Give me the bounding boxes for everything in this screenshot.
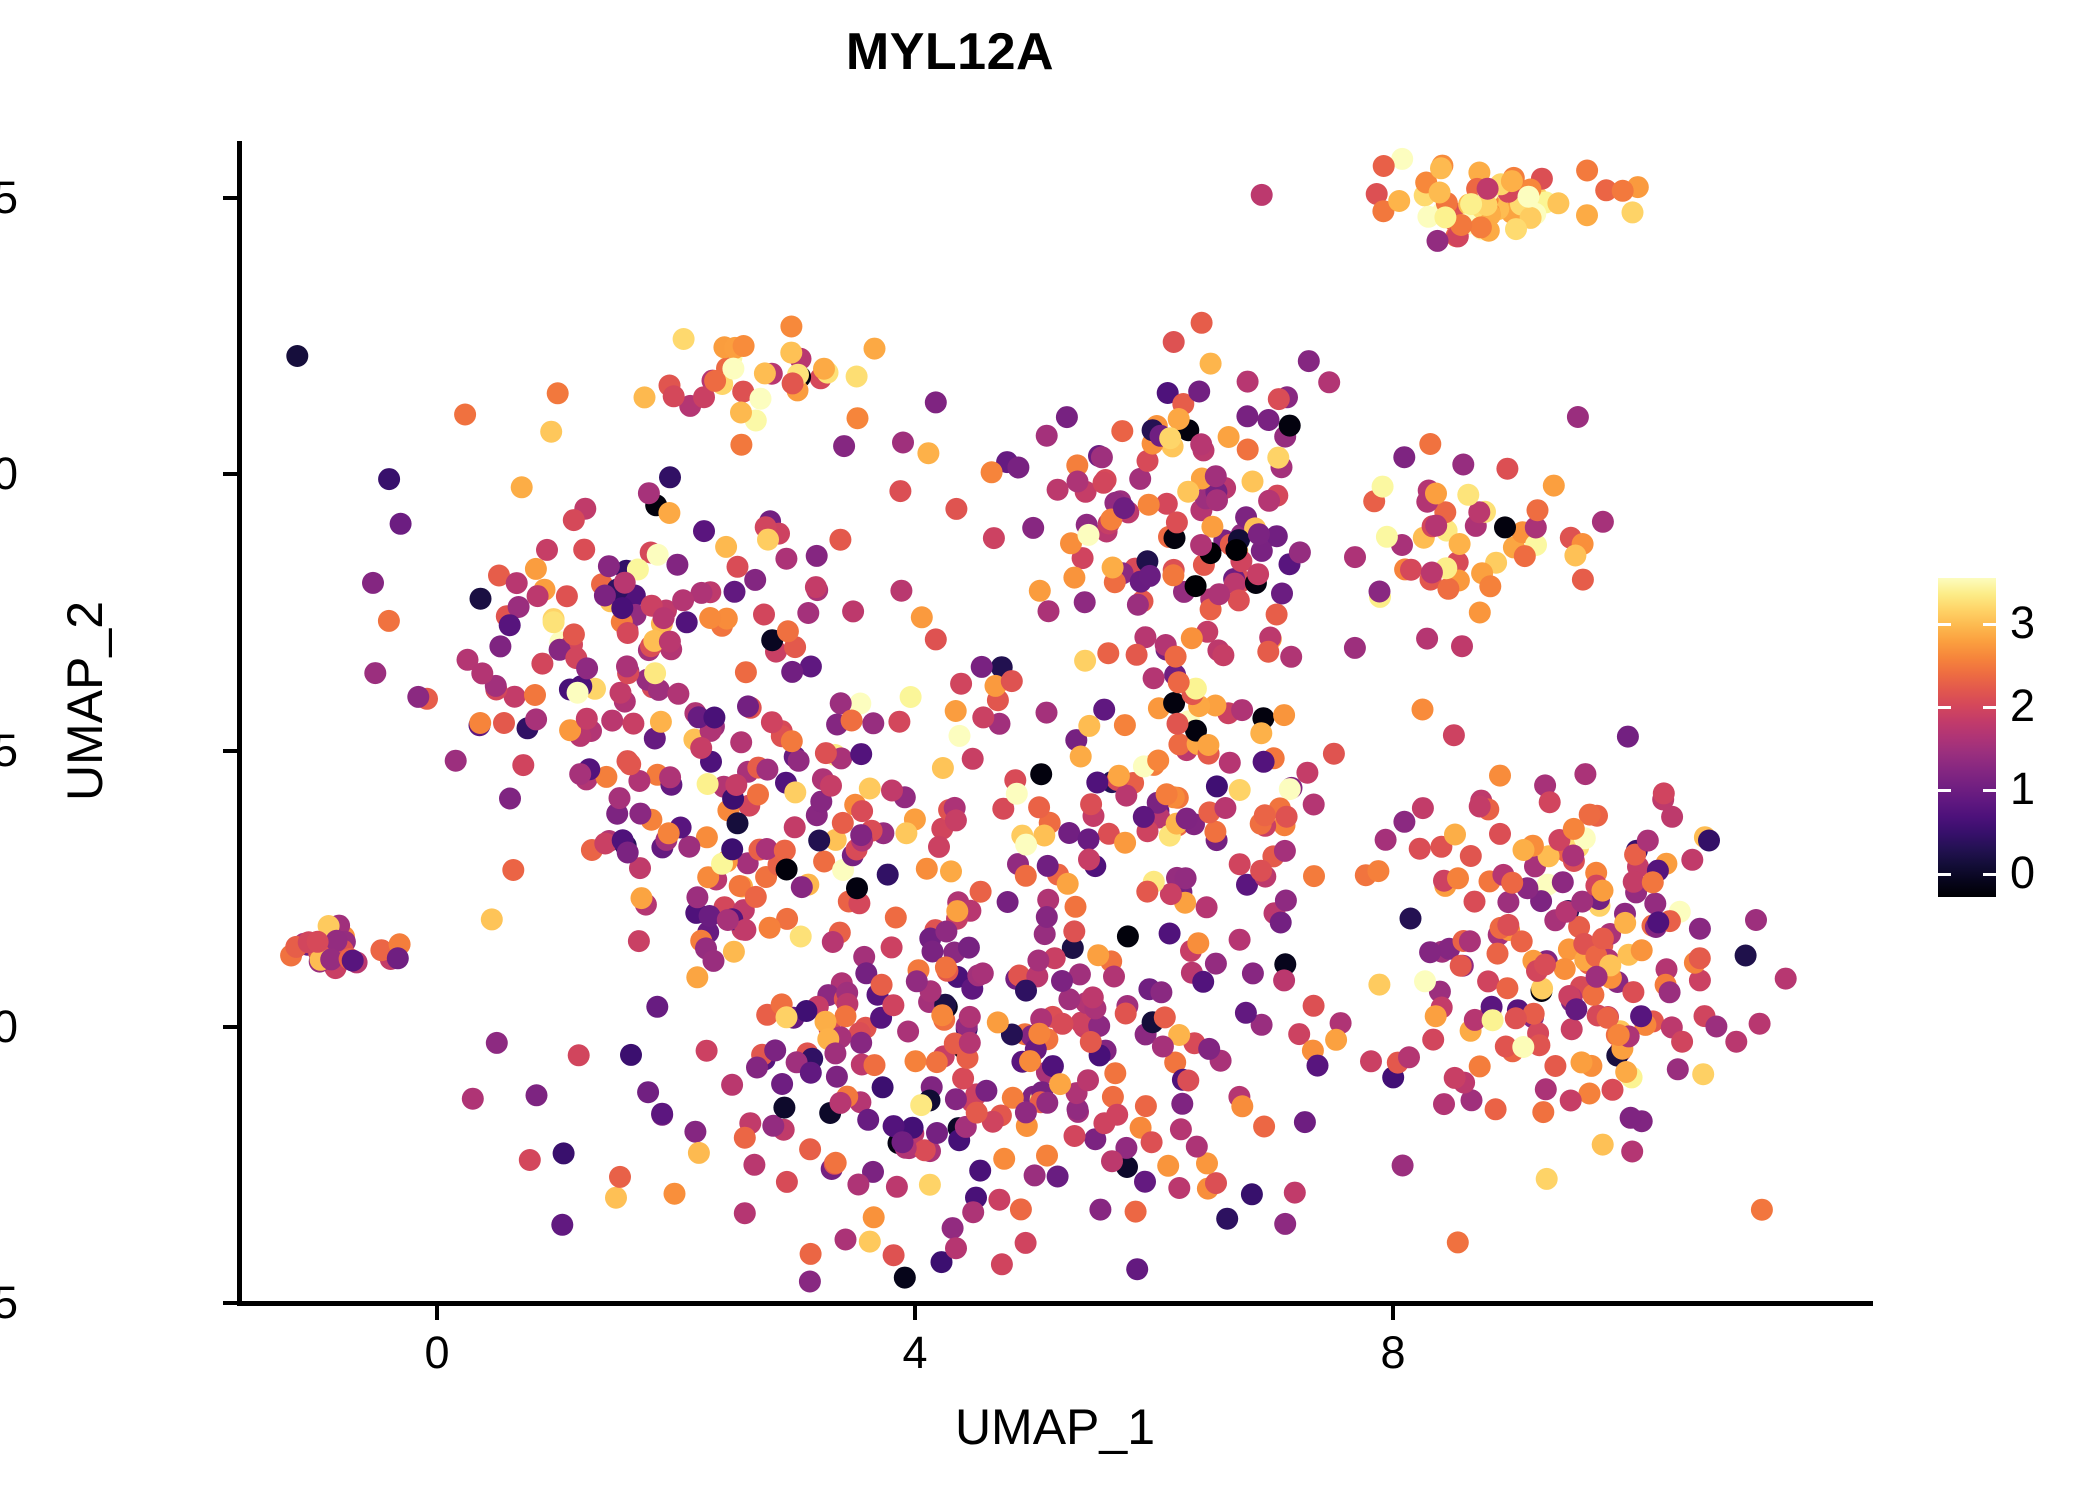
scatter-point xyxy=(525,558,547,580)
scatter-point xyxy=(1115,1003,1137,1025)
scatter-point xyxy=(975,1080,997,1102)
scatter-point xyxy=(966,1102,988,1124)
scatter-point xyxy=(1102,557,1124,579)
scatter-point xyxy=(1464,891,1486,913)
scatter-point xyxy=(362,572,384,594)
scatter-point xyxy=(730,434,752,456)
scatter-point xyxy=(1751,1199,1773,1221)
scatter-point xyxy=(1552,871,1574,893)
scatter-point xyxy=(563,509,585,531)
scatter-point xyxy=(722,358,744,380)
scatter-point xyxy=(646,996,668,1018)
scatter-point xyxy=(1024,1164,1046,1186)
scatter-point xyxy=(1197,734,1219,756)
scatter-point xyxy=(1266,604,1288,626)
scatter-point xyxy=(1457,484,1479,506)
scatter-point xyxy=(690,737,712,759)
scatter-point xyxy=(1077,1069,1099,1091)
scatter-point xyxy=(734,1202,756,1224)
scatter-point xyxy=(1554,958,1576,980)
scatter-point xyxy=(1126,1258,1148,1280)
scatter-point xyxy=(1204,821,1226,843)
scatter-point xyxy=(390,513,412,535)
scatter-point xyxy=(1425,515,1447,537)
scatter-point xyxy=(342,950,364,972)
scatter-point xyxy=(1296,762,1318,784)
scatter-point xyxy=(1612,180,1634,202)
scatter-point xyxy=(859,778,881,800)
scatter-point xyxy=(697,773,719,795)
y-tick-label: 5.0 xyxy=(0,448,18,500)
scatter-point xyxy=(962,748,984,770)
scatter-point xyxy=(737,695,759,717)
scatter-point xyxy=(1425,483,1447,505)
scatter-point xyxy=(945,1237,967,1259)
scatter-point xyxy=(1231,699,1253,721)
scatter-point xyxy=(851,800,873,822)
scatter-point xyxy=(1617,726,1639,748)
scatter-point xyxy=(945,498,967,520)
scatter-point xyxy=(842,600,864,622)
scatter-point xyxy=(1064,1125,1086,1147)
scatter-point xyxy=(1307,1055,1329,1077)
scatter-point xyxy=(1080,793,1102,815)
scatter-point xyxy=(1089,1199,1111,1221)
scatter-point xyxy=(1622,981,1644,1003)
scatter-point xyxy=(888,711,910,733)
scatter-point xyxy=(1547,192,1569,214)
y-tick-label: -2.5 xyxy=(0,1277,18,1329)
scatter-point xyxy=(1303,794,1325,816)
scatter-point xyxy=(378,610,400,632)
scatter-point xyxy=(822,931,844,953)
scatter-point xyxy=(1487,943,1509,965)
scatter-point xyxy=(499,788,521,810)
scatter-point xyxy=(721,1074,743,1096)
scatter-point xyxy=(1416,628,1438,650)
x-axis-title: UMAP_1 xyxy=(237,1398,1873,1456)
scatter-point xyxy=(1052,1013,1074,1035)
scatter-point xyxy=(553,1142,575,1164)
scatter-point xyxy=(481,908,503,930)
scatter-point xyxy=(493,712,515,734)
scatter-point xyxy=(1470,216,1492,238)
scatter-point xyxy=(511,476,533,498)
scatter-point xyxy=(806,545,828,567)
scatter-point xyxy=(971,656,993,678)
scatter-point xyxy=(1258,490,1280,512)
y-axis-title: UMAP_2 xyxy=(56,351,114,1051)
scatter-point xyxy=(567,682,589,704)
scatter-point xyxy=(1206,775,1228,797)
scatter-point xyxy=(889,480,911,502)
scatter-point xyxy=(1242,471,1264,493)
scatter-point xyxy=(744,569,766,591)
scatter-point xyxy=(1135,1095,1157,1117)
scatter-point xyxy=(1254,804,1276,826)
colorbar-tick-label: 1 xyxy=(2010,766,2035,811)
scatter-point xyxy=(1496,977,1518,999)
scatter-point xyxy=(864,1054,886,1076)
scatter-point xyxy=(1775,968,1797,990)
colorbar-tick-mark xyxy=(1938,789,1996,792)
scatter-point xyxy=(1434,206,1456,228)
scatter-point xyxy=(1057,873,1079,895)
scatter-point xyxy=(1671,1031,1693,1053)
scatter-point xyxy=(1692,1063,1714,1085)
scatter-point xyxy=(727,556,749,578)
scatter-point xyxy=(638,482,660,504)
scatter-point xyxy=(543,611,565,633)
scatter-point xyxy=(611,597,633,619)
scatter-point xyxy=(1644,893,1666,915)
scatter-point xyxy=(835,1229,857,1251)
scatter-point xyxy=(1501,170,1523,192)
scatter-point xyxy=(616,655,638,677)
scatter-point xyxy=(1268,388,1290,410)
scatter-point xyxy=(1156,783,1178,805)
scatter-point xyxy=(502,859,524,881)
scatter-point xyxy=(663,385,685,407)
scatter-point xyxy=(1419,433,1441,455)
scatter-point xyxy=(1074,650,1096,672)
scatter-point xyxy=(1125,1201,1147,1223)
scatter-point xyxy=(659,766,681,788)
scatter-point xyxy=(1208,583,1230,605)
scatter-point xyxy=(1029,580,1051,602)
scatter-point xyxy=(634,386,656,408)
scatter-point xyxy=(666,554,688,576)
scatter-point xyxy=(1028,796,1050,818)
scatter-point xyxy=(795,1000,817,1022)
scatter-point xyxy=(958,937,980,959)
scatter-point xyxy=(378,468,400,490)
scatter-point xyxy=(519,1149,541,1171)
scatter-point xyxy=(1422,1029,1444,1051)
scatter-point xyxy=(799,1271,821,1293)
scatter-point xyxy=(614,572,636,594)
scatter-point xyxy=(871,974,893,996)
scatter-point xyxy=(826,1066,848,1088)
scatter-point xyxy=(1477,178,1499,200)
scatter-point xyxy=(776,859,798,881)
scatter-point xyxy=(764,1039,786,1061)
scatter-point xyxy=(1544,1055,1566,1077)
scatter-point xyxy=(800,1243,822,1265)
scatter-point xyxy=(1097,642,1119,664)
scatter-point xyxy=(1681,849,1703,871)
scatter-point xyxy=(952,1068,974,1090)
scatter-point xyxy=(1154,1006,1176,1028)
scatter-point xyxy=(1518,186,1540,208)
scatter-point xyxy=(1705,1016,1727,1038)
scatter-point xyxy=(872,1076,894,1098)
scatter-point xyxy=(830,1092,852,1114)
scatter-point xyxy=(1047,479,1069,501)
scatter-point xyxy=(847,407,869,429)
scatter-point xyxy=(1108,765,1130,787)
scatter-point xyxy=(667,683,689,705)
scatter-point xyxy=(1038,600,1060,622)
scatter-point xyxy=(1280,646,1302,668)
scatter-point xyxy=(1749,1013,1771,1035)
scatter-point xyxy=(1698,830,1720,852)
scatter-point xyxy=(471,662,493,684)
colorbar-gradient xyxy=(1938,578,1996,897)
scatter-point xyxy=(1065,896,1087,918)
scatter-point xyxy=(1010,1198,1032,1220)
scatter-point xyxy=(631,887,653,909)
scatter-point xyxy=(653,607,675,629)
scatter-point xyxy=(1063,920,1085,942)
scatter-point xyxy=(1494,516,1516,538)
scatter-point xyxy=(1250,860,1272,882)
x-axis-line xyxy=(237,1301,1873,1306)
scatter-point xyxy=(1427,230,1449,252)
scatter-point xyxy=(730,731,752,753)
scatter-point xyxy=(1015,1232,1037,1254)
scatter-point xyxy=(1564,545,1586,567)
scatter-point xyxy=(945,700,967,722)
scatter-point xyxy=(1367,860,1389,882)
scatter-point xyxy=(1138,494,1160,516)
scatter-point xyxy=(1177,481,1199,503)
scatter-point xyxy=(1647,911,1669,933)
scatter-point xyxy=(1273,704,1295,726)
scatter-point xyxy=(1485,1098,1507,1120)
scatter-point xyxy=(1150,981,1172,1003)
scatter-point xyxy=(684,1121,706,1143)
scatter-point xyxy=(619,753,641,775)
scatter-point xyxy=(1565,998,1587,1020)
scatter-point xyxy=(1058,822,1080,844)
scatter-point xyxy=(897,1021,919,1043)
scatter-point xyxy=(1228,589,1250,611)
scatter-point xyxy=(970,881,992,903)
scatter-point xyxy=(862,712,884,734)
scatter-point xyxy=(1561,1018,1583,1040)
scatter-point xyxy=(1205,465,1227,487)
scatter-point xyxy=(1412,797,1434,819)
scatter-point xyxy=(407,686,429,708)
scatter-point xyxy=(1460,193,1482,215)
colorbar-tick-label: 3 xyxy=(2010,600,2035,645)
scatter-point xyxy=(972,962,994,984)
scatter-point xyxy=(1201,516,1223,538)
scatter-point xyxy=(1376,526,1398,548)
scatter-point xyxy=(733,335,755,357)
scatter-point xyxy=(1157,1155,1179,1177)
scatter-point xyxy=(926,1051,948,1073)
scatter-point xyxy=(703,707,725,729)
scatter-point xyxy=(286,345,308,367)
scatter-point xyxy=(1567,406,1589,428)
scatter-point xyxy=(1205,1172,1227,1194)
scatter-point xyxy=(1229,853,1251,875)
scatter-point xyxy=(945,1088,967,1110)
scatter-point xyxy=(745,886,767,908)
scatter-point xyxy=(598,555,620,577)
scatter-point xyxy=(1400,908,1422,930)
scatter-point xyxy=(1460,845,1482,867)
scatter-point xyxy=(1449,533,1471,555)
scatter-point xyxy=(664,1183,686,1205)
scatter-point xyxy=(1049,1073,1071,1095)
y-tick-label: 7.5 xyxy=(0,172,18,224)
scatter-point xyxy=(784,781,806,803)
x-tick-mark xyxy=(1391,1306,1395,1320)
colorbar-tick-label: 0 xyxy=(2010,850,2035,895)
scatter-point xyxy=(1393,446,1415,468)
scatter-point xyxy=(753,604,775,626)
scatter-point xyxy=(1592,511,1614,533)
colorbar-legend xyxy=(1938,578,1996,897)
scatter-point xyxy=(547,382,569,404)
scatter-point xyxy=(949,725,971,747)
scatter-point xyxy=(1414,970,1436,992)
scatter-point xyxy=(1258,409,1280,431)
scatter-point xyxy=(911,606,933,628)
y-tick-mark xyxy=(223,1301,237,1305)
scatter-point xyxy=(1318,371,1340,393)
scatter-point xyxy=(387,947,409,969)
scatter-point xyxy=(1621,1141,1643,1163)
scatter-point xyxy=(1479,575,1501,597)
scatter-point xyxy=(1437,578,1459,600)
scatter-point xyxy=(1196,896,1218,918)
scatter-point xyxy=(1086,772,1108,794)
scatter-point xyxy=(1236,405,1258,427)
scatter-point xyxy=(1206,489,1228,511)
scatter-point xyxy=(1126,644,1148,666)
scatter-point xyxy=(1106,1104,1128,1126)
scatter-point xyxy=(931,1004,953,1026)
scatter-point xyxy=(1303,995,1325,1017)
scatter-point xyxy=(1469,796,1491,818)
scatter-point xyxy=(959,1006,981,1028)
scatter-point xyxy=(1036,1092,1058,1114)
scatter-point xyxy=(629,803,651,825)
scatter-point xyxy=(857,1109,879,1131)
scatter-point xyxy=(1412,699,1434,721)
scatter-point xyxy=(1170,1118,1192,1140)
scatter-point xyxy=(797,602,819,624)
scatter-point xyxy=(813,851,835,873)
scatter-point xyxy=(1360,1050,1382,1072)
scatter-point xyxy=(761,711,783,733)
scatter-point xyxy=(747,784,769,806)
scatter-point xyxy=(892,432,914,454)
scatter-point xyxy=(1447,1231,1469,1253)
scatter-point xyxy=(895,822,917,844)
scatter-point xyxy=(1630,1005,1652,1027)
scatter-point xyxy=(526,1084,548,1106)
scatter-point xyxy=(512,754,534,776)
scatter-point xyxy=(703,950,725,972)
scatter-point xyxy=(1082,986,1104,1008)
scatter-point xyxy=(805,576,827,598)
scatter-point xyxy=(1614,912,1636,934)
scatter-point xyxy=(1028,1023,1050,1045)
scatter-point xyxy=(997,891,1019,913)
scatter-point xyxy=(1167,713,1189,735)
scatter-point xyxy=(1214,797,1236,819)
scatter-point xyxy=(1139,565,1161,587)
x-tick-label: 4 xyxy=(855,1327,975,1379)
scatter-point xyxy=(762,1115,784,1137)
scatter-point xyxy=(1735,945,1757,967)
scatter-point xyxy=(1745,909,1767,931)
scatter-point xyxy=(1253,751,1275,773)
scatter-point xyxy=(617,842,639,864)
scatter-point xyxy=(1147,750,1169,772)
scatter-point xyxy=(727,812,749,834)
scatter-point xyxy=(1229,779,1251,801)
scatter-point xyxy=(1104,1062,1126,1084)
scatter-point xyxy=(1271,583,1293,605)
scatter-point xyxy=(693,520,715,542)
scatter-point xyxy=(1212,644,1234,666)
scatter-point xyxy=(1114,832,1136,854)
scatter-point xyxy=(1176,808,1198,830)
scatter-point xyxy=(1015,834,1037,856)
scatter-point xyxy=(1620,1107,1642,1129)
scatter-point xyxy=(1497,891,1519,913)
scatter-point xyxy=(1667,1058,1689,1080)
scatter-point xyxy=(622,713,644,735)
scatter-point xyxy=(658,822,680,844)
scatter-point xyxy=(864,338,886,360)
scatter-point xyxy=(1163,331,1185,353)
scatter-point xyxy=(1253,1116,1275,1138)
scatter-point xyxy=(1242,962,1264,984)
scatter-point xyxy=(1168,408,1190,430)
scatter-point xyxy=(1078,849,1100,871)
scatter-point xyxy=(935,921,957,943)
scatter-point xyxy=(1469,602,1491,624)
scatter-point xyxy=(1015,865,1037,887)
scatter-point xyxy=(525,708,547,730)
scatter-point xyxy=(1444,824,1466,846)
page-title: MYL12A xyxy=(0,22,1900,82)
scatter-point xyxy=(781,661,803,683)
y-tick-mark xyxy=(223,196,237,200)
scatter-point xyxy=(524,684,546,706)
scatter-point xyxy=(1443,724,1465,746)
scatter-point xyxy=(1078,828,1100,850)
scatter-point xyxy=(1247,563,1269,585)
chart-root: MYL12A 7.55.02.50.0-2.5 048 UMAP_1 UMAP_… xyxy=(0,0,2100,1500)
scatter-point xyxy=(1185,575,1207,597)
scatter-point xyxy=(717,909,739,931)
scatter-point xyxy=(1006,783,1028,805)
scatter-point xyxy=(637,1081,659,1103)
scatter-point xyxy=(1400,559,1422,581)
scatter-point xyxy=(1430,157,1452,179)
scatter-point xyxy=(672,589,694,611)
scatter-point xyxy=(1496,458,1518,480)
scatter-point xyxy=(1572,569,1594,591)
scatter-point xyxy=(799,1138,821,1160)
scatter-point xyxy=(877,864,899,886)
scatter-point xyxy=(1225,539,1247,561)
scatter-point xyxy=(1452,454,1474,476)
scatter-point xyxy=(815,742,837,764)
scatter-point xyxy=(919,1174,941,1196)
scatter-point xyxy=(1489,823,1511,845)
scatter-point xyxy=(1250,722,1272,744)
scatter-point xyxy=(1274,1213,1296,1235)
